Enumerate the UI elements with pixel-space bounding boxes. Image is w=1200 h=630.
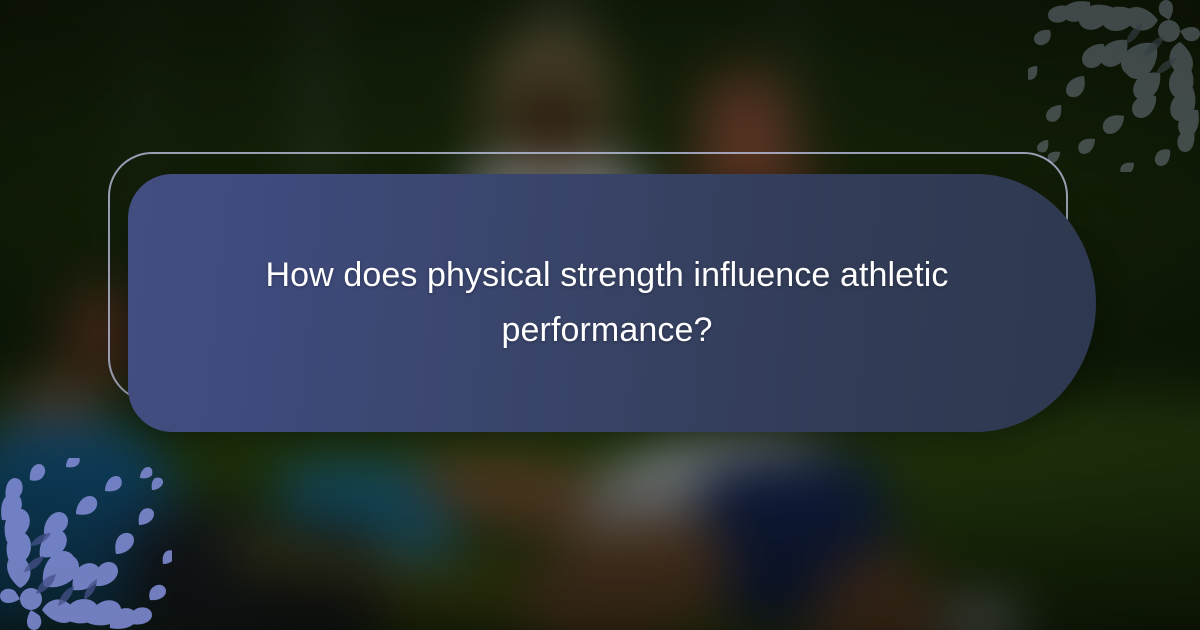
floral-corner-ornament-icon-top-right <box>1028 0 1200 172</box>
question-card: How does physical strength influence ath… <box>128 174 1096 432</box>
question-title: How does physical strength influence ath… <box>217 248 997 358</box>
share-card-canvas: How does physical strength influence ath… <box>0 0 1200 630</box>
floral-corner-ornament-icon-bottom-left <box>0 458 172 630</box>
